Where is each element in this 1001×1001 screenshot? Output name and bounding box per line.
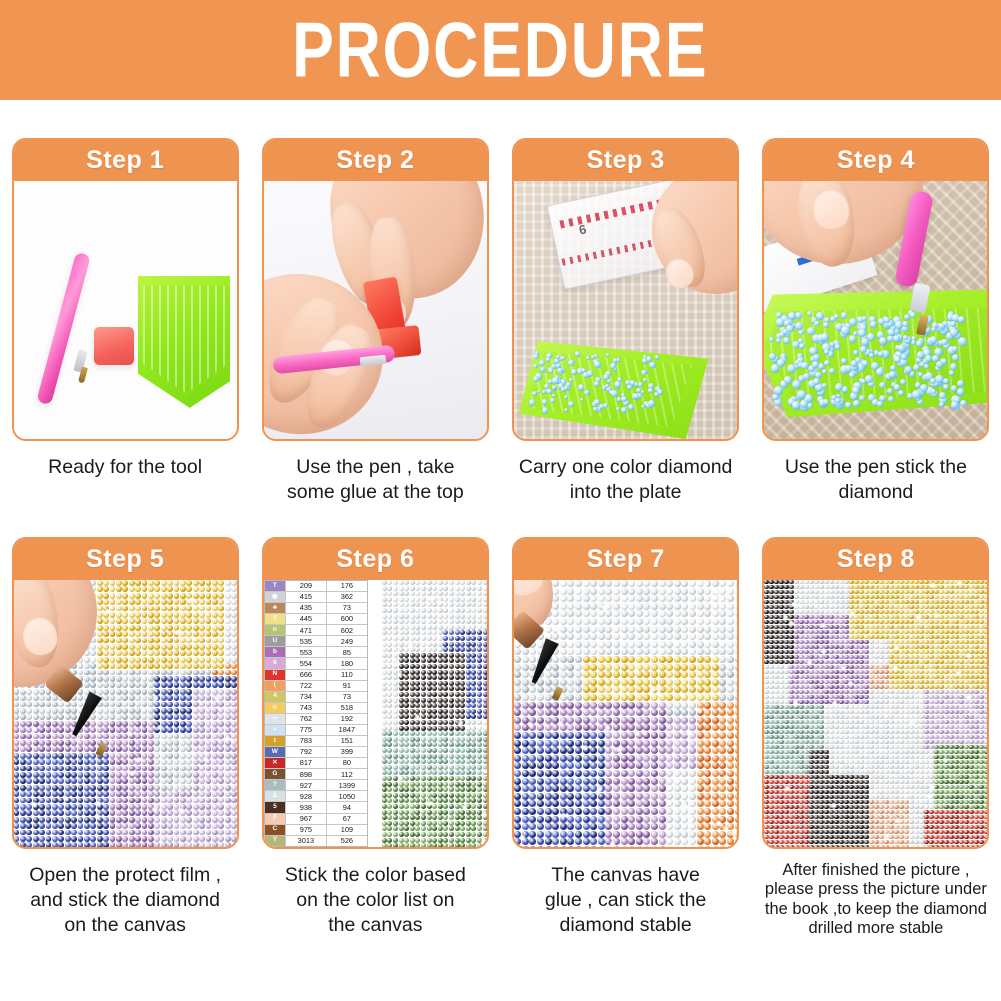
mosaic-cell: [97, 606, 103, 612]
sparkle-highlight: [397, 672, 402, 677]
mosaic-cell: [90, 670, 96, 676]
mosaic-cell: [33, 772, 39, 778]
mosaic-cell: [421, 686, 426, 691]
mosaic-cell: [443, 664, 448, 669]
mosaic-cell: [129, 612, 135, 618]
diamond-grain: [801, 362, 809, 370]
mosaic-cell: [944, 640, 948, 644]
mosaic-cell: [180, 695, 186, 701]
mosaic-cell: [959, 645, 963, 649]
mosaic-cell: [52, 734, 58, 740]
step-cell-8: Step 8 After finished the picture , plea…: [751, 537, 1001, 939]
mosaic-cell: [689, 633, 696, 640]
mosaic-cell: [393, 647, 398, 652]
mosaic-cell: [116, 631, 122, 637]
mosaic-cell: [560, 603, 567, 610]
mosaic-cell: [174, 785, 180, 791]
mosaic-cell: [393, 709, 398, 714]
mosaic-cell: [575, 762, 582, 769]
mosaic-cell: [651, 724, 658, 731]
mosaic-cell: [212, 766, 218, 772]
mosaic-cell: [621, 846, 628, 847]
mosaic-cell: [427, 642, 432, 647]
mosaic-cell: [135, 599, 141, 605]
mosaic-cell: [764, 595, 768, 599]
mosaic-cell: [545, 770, 552, 777]
step-card-1[interactable]: Step 1: [12, 138, 239, 441]
mosaic-cell: [393, 619, 398, 624]
mosaic-cell: [471, 754, 476, 759]
mosaic-cell: [212, 676, 218, 682]
mosaic-cell: [438, 770, 443, 775]
mosaic-cell: [735, 838, 738, 845]
mosaic-cell: [449, 826, 454, 831]
mosaic-cell: [598, 793, 605, 800]
mosaic-cell: [934, 590, 938, 594]
mosaic-cell: [180, 830, 186, 836]
mosaic-cell: [643, 785, 650, 792]
mosaic-cell: [545, 732, 552, 739]
mosaic-cell: [567, 679, 574, 686]
mosaic-cell: [712, 603, 719, 610]
mosaic-cell: [399, 754, 404, 759]
mosaic-cell: [460, 686, 465, 691]
mosaic-cell: [161, 625, 167, 631]
diamond-grain: [905, 366, 912, 373]
mosaic-cell: [148, 586, 154, 592]
color-chart-row: (72291: [265, 681, 367, 692]
mosaic-cell: [97, 631, 103, 637]
mosaic-cell: [455, 591, 460, 596]
mosaic-cell: [129, 753, 135, 759]
mosaic-cell: [689, 656, 696, 663]
mosaic-cell: [804, 635, 808, 639]
mosaic-cell: [681, 747, 688, 754]
mosaic-cell: [924, 635, 928, 639]
mosaic-cell: [727, 618, 734, 625]
mosaic-cell: [46, 823, 52, 829]
mosaic-cell: [984, 580, 987, 584]
mosaic-cell: [674, 762, 681, 769]
mosaic-cell: [135, 810, 141, 816]
mosaic-cell: [934, 585, 938, 589]
mosaic-cell: [697, 626, 704, 633]
mosaic-cell: [719, 732, 726, 739]
mosaic-cell: [666, 800, 673, 807]
mosaic-cell: [455, 658, 460, 663]
mosaic-cell: [984, 645, 987, 649]
mosaic-cell: [148, 670, 154, 676]
mosaic-cell: [789, 650, 793, 654]
step-header-4: Step 4: [764, 140, 987, 181]
mosaic-cell: [58, 740, 64, 746]
mosaic-cell: [116, 759, 122, 765]
mosaic-cell: [218, 702, 224, 708]
mosaic-cell: [628, 656, 635, 663]
mosaic-cell: [14, 778, 20, 784]
mosaic-cell: [404, 748, 409, 753]
mosaic-cell: [628, 648, 635, 655]
mosaic-cell: [206, 606, 212, 612]
mosaic-cell: [545, 633, 552, 640]
mosaic-cell: [225, 644, 231, 650]
mosaic-cell: [33, 810, 39, 816]
mosaic-cell: [84, 759, 90, 765]
mosaic-cell: [225, 670, 231, 676]
color-code: 209: [286, 581, 327, 591]
color-chart-row: n471602: [265, 625, 367, 636]
mosaic-cell: [404, 636, 409, 641]
mosaic-cell: [659, 793, 666, 800]
mosaic-cell: [427, 692, 432, 697]
step-card-2[interactable]: Step 2: [262, 138, 489, 441]
color-code: 535: [286, 636, 327, 646]
mosaic-cell: [529, 762, 536, 769]
mosaic-cell: [382, 810, 387, 815]
mosaic-cell: [689, 755, 696, 762]
mosaic-cell: [628, 641, 635, 648]
mosaic-cell: [984, 635, 987, 639]
mosaic-cell: [206, 644, 212, 650]
mosaic-cell: [421, 776, 426, 781]
mosaic-cell: [393, 787, 398, 792]
mosaic-cell: [122, 759, 128, 765]
mosaic-cell: [110, 804, 116, 810]
mosaic-cell: [854, 610, 858, 614]
mosaic-cell: [90, 842, 96, 847]
mosaic-cell: [974, 595, 978, 599]
mosaic-cell: [212, 670, 218, 676]
mosaic-cell: [174, 708, 180, 714]
mosaic-cell: [39, 714, 45, 720]
mosaic-cell: [427, 832, 432, 837]
mosaic-cell: [874, 585, 878, 589]
mosaic-cell: [869, 580, 873, 584]
mosaic-cell: [969, 605, 973, 609]
mosaic-cell: [186, 746, 192, 752]
mosaic-cell: [598, 846, 605, 847]
mosaic-cell: [218, 810, 224, 816]
mosaic-cell: [404, 770, 409, 775]
mosaic-cell: [460, 703, 465, 708]
mosaic-cell: [387, 608, 392, 613]
mosaic-cell: [884, 600, 888, 604]
mosaic-cell: [33, 823, 39, 829]
mosaic-cell: [628, 800, 635, 807]
mosaic-cell: [613, 732, 620, 739]
mosaic-cell: [129, 663, 135, 669]
mosaic-cell: [154, 753, 160, 759]
mosaic-cell: [427, 636, 432, 641]
mosaic-cell: [382, 608, 387, 613]
mosaic-cell: [697, 664, 704, 671]
mosaic-cell: [427, 686, 432, 691]
mosaic-cell: [71, 778, 77, 784]
mosaic-cell: [110, 714, 116, 720]
mosaic-cell: [471, 742, 476, 747]
mosaic-cell: [122, 670, 128, 676]
mosaic-cell: [382, 625, 387, 630]
mosaic-cell: [404, 586, 409, 591]
mosaic-cell: [804, 630, 808, 634]
mosaic-cell: [712, 808, 719, 815]
mosaic-cell: [944, 605, 948, 609]
mosaic-cell: [949, 605, 953, 609]
mosaic-cell: [387, 832, 392, 837]
mosaic-cell: [924, 615, 928, 619]
mosaic-cell: [522, 823, 529, 830]
mosaic-cell: [689, 846, 696, 847]
mosaic-cell: [659, 595, 666, 602]
mosaic-cell: [809, 605, 813, 609]
mosaic-cell: [839, 620, 843, 624]
mosaic-cell: [167, 695, 173, 701]
mosaic-cell: [174, 714, 180, 720]
mosaic-cell: [869, 595, 873, 599]
mosaic-cell: [545, 747, 552, 754]
mosaic-cell: [689, 618, 696, 625]
mosaic-cell: [674, 740, 681, 747]
mosaic-cell: [689, 610, 696, 617]
mosaic-cell: [142, 638, 148, 644]
mosaic-cell: [979, 635, 983, 639]
mosaic-cell: [455, 597, 460, 602]
mosaic-cell: [58, 842, 64, 847]
mosaic-cell: [167, 631, 173, 637]
mosaic-cell: [443, 815, 448, 820]
sparkle-highlight: [723, 775, 728, 780]
mosaic-cell: [78, 817, 84, 823]
mosaic-cell: [889, 580, 893, 584]
mosaic-cell: [814, 650, 818, 654]
mosaic-cell: [659, 709, 666, 716]
mosaic-cell: [33, 740, 39, 746]
mosaic-cell: [613, 595, 620, 602]
mosaic-cell: [218, 842, 224, 847]
mosaic-cell: [712, 641, 719, 648]
mosaic-cell: [477, 748, 482, 753]
mosaic-cell: [784, 625, 788, 629]
mosaic-cell: [84, 817, 90, 823]
mosaic-cell: [393, 686, 398, 691]
step-card-3[interactable]: Step 3 6: [512, 138, 739, 441]
mosaic-cell: [97, 721, 103, 727]
mosaic-cell: [471, 703, 476, 708]
step-card-6[interactable]: Step 6 T209176◉415362♣435737445600n47160…: [262, 537, 489, 849]
step-card-5[interactable]: Step 5: [12, 537, 239, 849]
mosaic-cell: [460, 698, 465, 703]
mosaic-cell: [393, 826, 398, 831]
mosaic-cell: [393, 821, 398, 826]
mosaic-cell: [432, 731, 437, 736]
mosaic-cell: [427, 664, 432, 669]
mosaic-cell: [605, 671, 612, 678]
diamond-grain: [547, 389, 552, 394]
sparkle-highlight: [682, 803, 687, 808]
color-code: 967: [286, 814, 327, 824]
mosaic-cell: [231, 657, 236, 663]
mosaic-cell: [621, 702, 628, 709]
mosaic-cell: [829, 635, 833, 639]
mosaic-cell: [65, 746, 71, 752]
mosaic-cell: [449, 653, 454, 658]
mosaic-cell: [180, 766, 186, 772]
mosaic-cell: [142, 791, 148, 797]
mosaic-cell: [583, 618, 590, 625]
mosaic-cell: [909, 620, 913, 624]
mosaic-cell: [613, 580, 620, 587]
mosaic-cell: [621, 800, 628, 807]
mosaic-cell: [193, 580, 199, 586]
mosaic-cell: [598, 709, 605, 716]
mosaic-cell: [180, 785, 186, 791]
mosaic-cell: [636, 626, 643, 633]
sparkle-highlight: [105, 609, 110, 614]
color-chart-row: N666110: [265, 670, 367, 681]
mosaic-cell: [628, 626, 635, 633]
mosaic-cell: [814, 590, 818, 594]
mosaic-cell: [954, 630, 958, 634]
page-header-band: PROCEDURE: [0, 0, 1001, 100]
mosaic-cell: [909, 640, 913, 644]
mosaic-cell: [621, 580, 628, 587]
mosaic-cell: [199, 670, 205, 676]
mosaic-cell: [537, 800, 544, 807]
mosaic-cell: [874, 600, 878, 604]
mosaic-cell: [919, 645, 923, 649]
mosaic-cell: [934, 600, 938, 604]
mosaic-cell: [704, 633, 711, 640]
mosaic-cell: [410, 580, 415, 585]
mosaic-cell: [613, 717, 620, 724]
step-header-3: Step 3: [514, 140, 737, 181]
mosaic-cell: [712, 633, 719, 640]
mosaic-cell: [206, 638, 212, 644]
mosaic-cell: [899, 580, 903, 584]
mosaic-cell: [814, 610, 818, 614]
mosaic-cell: [387, 815, 392, 820]
mosaic-cell: [829, 580, 833, 584]
mosaic-cell: [934, 630, 938, 634]
mosaic-cell: [483, 793, 487, 798]
mosaic-cell: [135, 618, 141, 624]
mosaic-cell: [924, 580, 928, 584]
mosaic-cell: [116, 791, 122, 797]
mosaic-cell: [834, 610, 838, 614]
mosaic-cell: [393, 843, 398, 847]
mosaic-cell: [78, 830, 84, 836]
mosaic-cell: [410, 770, 415, 775]
mosaic-cell: [560, 694, 567, 701]
mosaic-cell: [789, 630, 793, 634]
mosaic-cell: [97, 823, 103, 829]
mosaic-cell: [567, 618, 574, 625]
mosaic-cell: [20, 772, 26, 778]
mosaic-cell: [522, 648, 529, 655]
color-count: 602: [327, 625, 367, 635]
mosaic-cell: [613, 831, 620, 838]
mosaic-cell: [135, 778, 141, 784]
mosaic-cell: [651, 679, 658, 686]
step-card-7[interactable]: Step 7: [512, 537, 739, 849]
mosaic-cell: [522, 732, 529, 739]
step-card-8[interactable]: Step 8: [762, 537, 989, 849]
mosaic-cell: [844, 600, 848, 604]
mosaic-cell: [97, 599, 103, 605]
mosaic-cell: [477, 798, 482, 803]
mosaic-cell: [598, 831, 605, 838]
color-symbol-swatch: ⫽: [265, 814, 286, 824]
step-card-4[interactable]: Step 4: [762, 138, 989, 441]
mosaic-cell: [919, 610, 923, 614]
mosaic-cell: [193, 593, 199, 599]
mosaic-cell: [199, 618, 205, 624]
sparkle-highlight: [157, 725, 162, 730]
mosaic-cell: [779, 640, 783, 644]
mosaic-cell: [142, 727, 148, 733]
mosaic-cell: [129, 586, 135, 592]
mosaic-cell: [598, 656, 605, 663]
color-count: 85: [327, 647, 367, 657]
mosaic-cell: [225, 702, 231, 708]
mosaic-cell: [681, 626, 688, 633]
mosaic-cell: [103, 580, 109, 586]
mosaic-cell: [97, 772, 103, 778]
mosaic-cell: [483, 642, 487, 647]
mosaic-cell: [382, 630, 387, 635]
mosaic-cell: [727, 816, 734, 823]
mosaic-cell: [674, 679, 681, 686]
mosaic-cell: [924, 595, 928, 599]
mosaic-cell: [874, 645, 878, 649]
mosaic-cell: [231, 663, 236, 669]
mosaic-cell: [212, 593, 218, 599]
mosaic-cell: [909, 635, 913, 639]
mosaic-cell: [84, 682, 90, 688]
mosaic-cell: [529, 755, 536, 762]
mosaic-cell: [212, 798, 218, 804]
mosaic-cell: [844, 610, 848, 614]
mosaic-cell: [471, 653, 476, 658]
mosaic-cell: [567, 800, 574, 807]
mosaic-cell: [129, 657, 135, 663]
mosaic-cell: [636, 778, 643, 785]
mosaic-cell: [186, 817, 192, 823]
mosaic-cell: [103, 836, 109, 842]
mosaic-cell: [443, 675, 448, 680]
mosaic-cell: [621, 709, 628, 716]
mosaic-cell: [135, 746, 141, 752]
mosaic-cell: [449, 630, 454, 635]
mosaic-cell: [39, 708, 45, 714]
mosaic-cell: [212, 657, 218, 663]
mosaic-cell: [704, 785, 711, 792]
mosaic-cell: [103, 734, 109, 740]
mosaic-cell: [769, 630, 773, 634]
mosaic-cell: [410, 838, 415, 843]
mosaic-cell: [899, 630, 903, 634]
mosaic-cell: [854, 615, 858, 619]
mosaic-cell: [180, 823, 186, 829]
mosaic-cell: [704, 823, 711, 830]
mosaic-cell: [180, 580, 186, 586]
mosaic-cell: [39, 727, 45, 733]
mosaic-cell: [167, 772, 173, 778]
mosaic-cell: [97, 785, 103, 791]
mosaic-cell: [727, 740, 734, 747]
mosaic-cell: [666, 641, 673, 648]
mosaic-cell: [590, 831, 597, 838]
